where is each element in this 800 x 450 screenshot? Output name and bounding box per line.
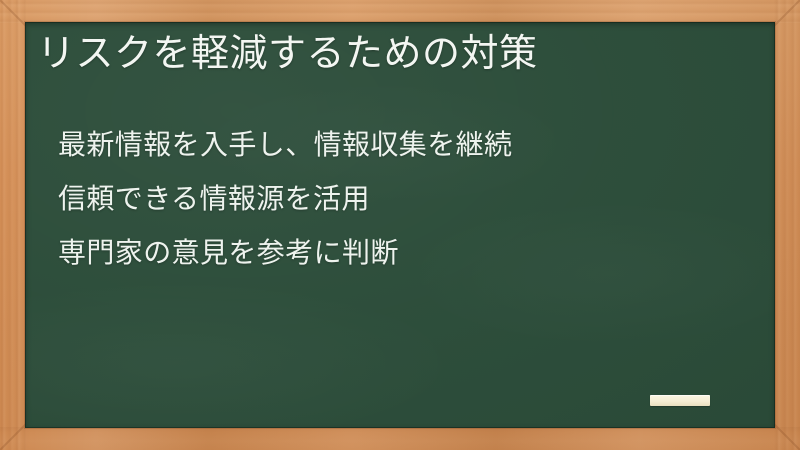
list-item: 最新情報を入手し、情報収集を継続 xyxy=(58,118,512,172)
bullet-list: 最新情報を入手し、情報収集を継続 信頼できる情報源を活用 専門家の意見を参考に判… xyxy=(58,118,512,280)
frame-grain-right xyxy=(774,0,800,450)
board-content: リスクを軽減するための対策 最新情報を入手し、情報収集を継続 信頼できる情報源を… xyxy=(25,22,775,428)
chalkboard-surface: リスクを軽減するための対策 最新情報を入手し、情報収集を継続 信頼できる情報源を… xyxy=(25,22,775,428)
frame-grain-bottom xyxy=(0,427,800,450)
list-item: 専門家の意見を参考に判断 xyxy=(58,226,512,280)
slide-canvas: リスクを軽減するための対策 最新情報を入手し、情報収集を継続 信頼できる情報源を… xyxy=(0,0,800,450)
page-title: リスクを軽減するための対策 xyxy=(37,30,538,76)
frame-grain-left xyxy=(0,0,26,450)
chalk-stick-icon xyxy=(650,395,710,406)
list-item: 信頼できる情報源を活用 xyxy=(58,172,512,226)
frame-grain-top xyxy=(0,0,800,23)
